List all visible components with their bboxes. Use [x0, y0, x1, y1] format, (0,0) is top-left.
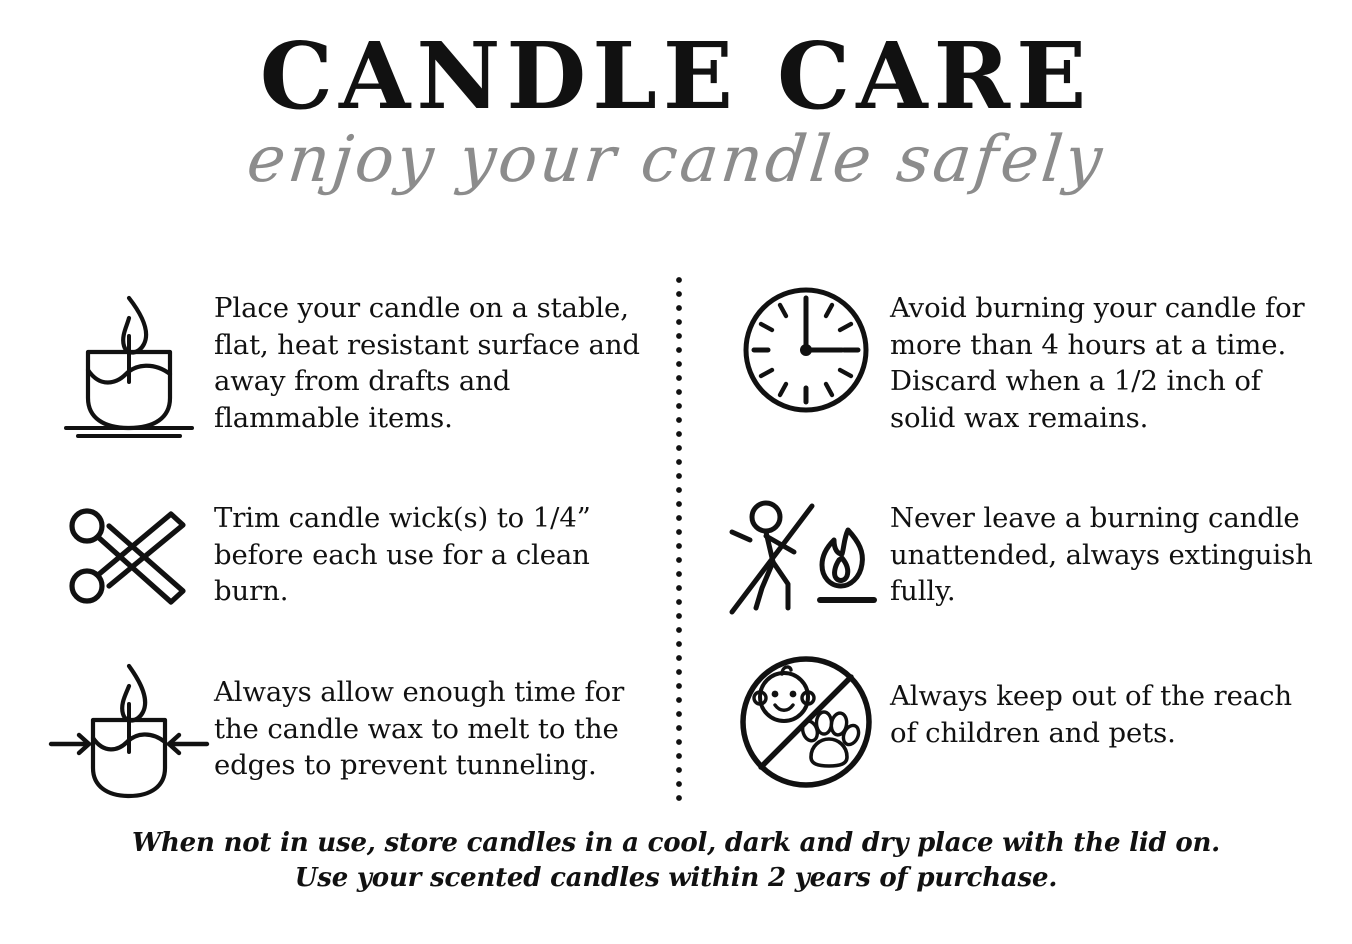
footer: When not in use, store candles in a cool…: [0, 826, 1352, 896]
tip-item: Never leave a burning candle unattended,…: [722, 484, 1318, 652]
header: CANDLE CARE enjoy your candle safely: [0, 0, 1352, 192]
tip-text: Trim candle wick(s) to 1/4” before each …: [214, 484, 648, 610]
tip-item: Always allow enough time for the candle …: [44, 652, 648, 806]
page-title: CANDLE CARE: [0, 30, 1352, 122]
scissors-icon: [44, 484, 214, 618]
tip-text: Place your candle on a stable, flat, hea…: [214, 272, 648, 436]
tips-column-right: Avoid burning your candle for more than …: [676, 272, 1352, 806]
candle-on-surface-icon: [44, 272, 214, 438]
candle-care-infographic: CANDLE CARE enjoy your candle safely: [0, 0, 1352, 944]
no-children-or-pets-icon: [722, 652, 890, 792]
no-person-near-flame-icon: [722, 484, 890, 616]
clock-icon: [722, 272, 890, 418]
tip-item: Trim candle wick(s) to 1/4” before each …: [44, 484, 648, 652]
footer-line-1: When not in use, store candles in a cool…: [0, 826, 1352, 861]
candle-tunneling-arrows-icon: [44, 652, 214, 804]
tip-text: Always allow enough time for the candle …: [214, 652, 648, 784]
tips-column-left: Place your candle on a stable, flat, hea…: [0, 272, 676, 806]
tips-container: Place your candle on a stable, flat, hea…: [0, 272, 1352, 806]
tip-item: Place your candle on a stable, flat, hea…: [44, 272, 648, 484]
tip-item: Always keep out of the reach of children…: [722, 652, 1318, 806]
tip-text: Avoid burning your candle for more than …: [890, 272, 1318, 436]
page-subtitle: enjoy your candle safely: [0, 128, 1352, 192]
tip-text: Never leave a burning candle unattended,…: [890, 484, 1318, 610]
tip-text: Always keep out of the reach of children…: [890, 652, 1318, 751]
footer-line-2: Use your scented candles within 2 years …: [0, 861, 1352, 896]
tip-item: Avoid burning your candle for more than …: [722, 272, 1318, 484]
